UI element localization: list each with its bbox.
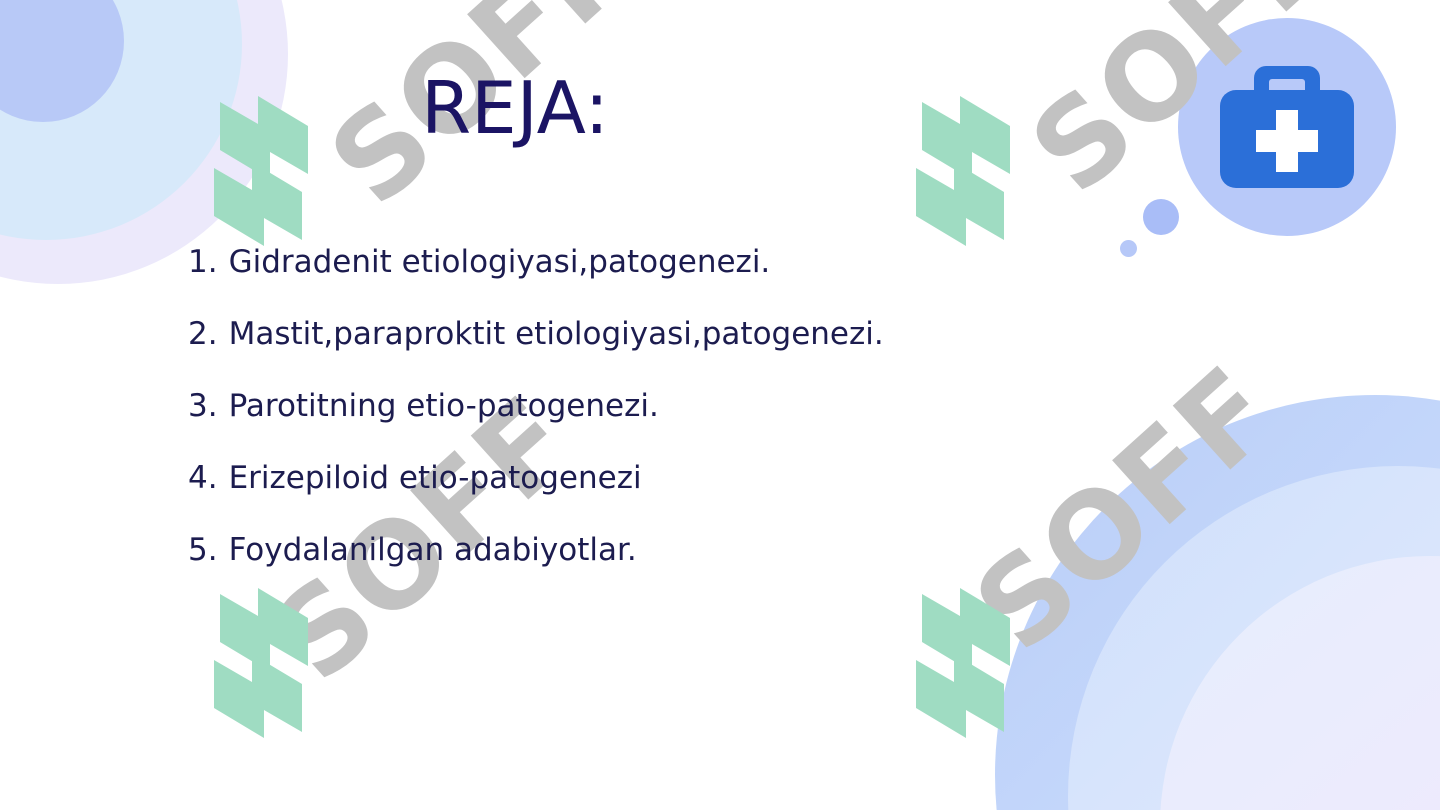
list-item-number: 2. — [188, 319, 218, 350]
page-title: REJA: — [0, 72, 1030, 144]
list-item-label: Foydalanilgan adabiyotlar. — [229, 535, 637, 566]
presentation-slide: SOFF SOFF SOFF SOFF — [0, 0, 1440, 810]
list-item-number: 3. — [188, 391, 218, 422]
list-item: 5. Foydalanilgan adabiyotlar. — [188, 514, 884, 586]
list-item: 4. Erizepiloid etio-patogenezi — [188, 442, 884, 514]
list-item-number: 4. — [188, 463, 218, 494]
list-item: 2. Mastit,paraproktit etiologiyasi,patog… — [188, 298, 884, 370]
list-item-label: Mastit,paraproktit etiologiyasi,patogene… — [229, 319, 884, 350]
list-item-number: 1. — [188, 247, 218, 278]
list-item-number: 5. — [188, 535, 218, 566]
list-item: 1. Gidradenit etiologiyasi,patogenezi. — [188, 226, 884, 298]
list-item-label: Gidradenit etiologiyasi,patogenezi. — [229, 247, 771, 278]
list-item-label: Erizepiloid etio-patogenezi — [229, 463, 642, 494]
list-item: 3. Parotitning etio-patogenezi. — [188, 370, 884, 442]
agenda-list: 1. Gidradenit etiologiyasi,patogenezi. 2… — [188, 226, 884, 586]
list-item-label: Parotitning etio-patogenezi. — [229, 391, 659, 422]
slide-content: REJA: 1. Gidradenit etiologiyasi,patogen… — [0, 0, 1440, 810]
